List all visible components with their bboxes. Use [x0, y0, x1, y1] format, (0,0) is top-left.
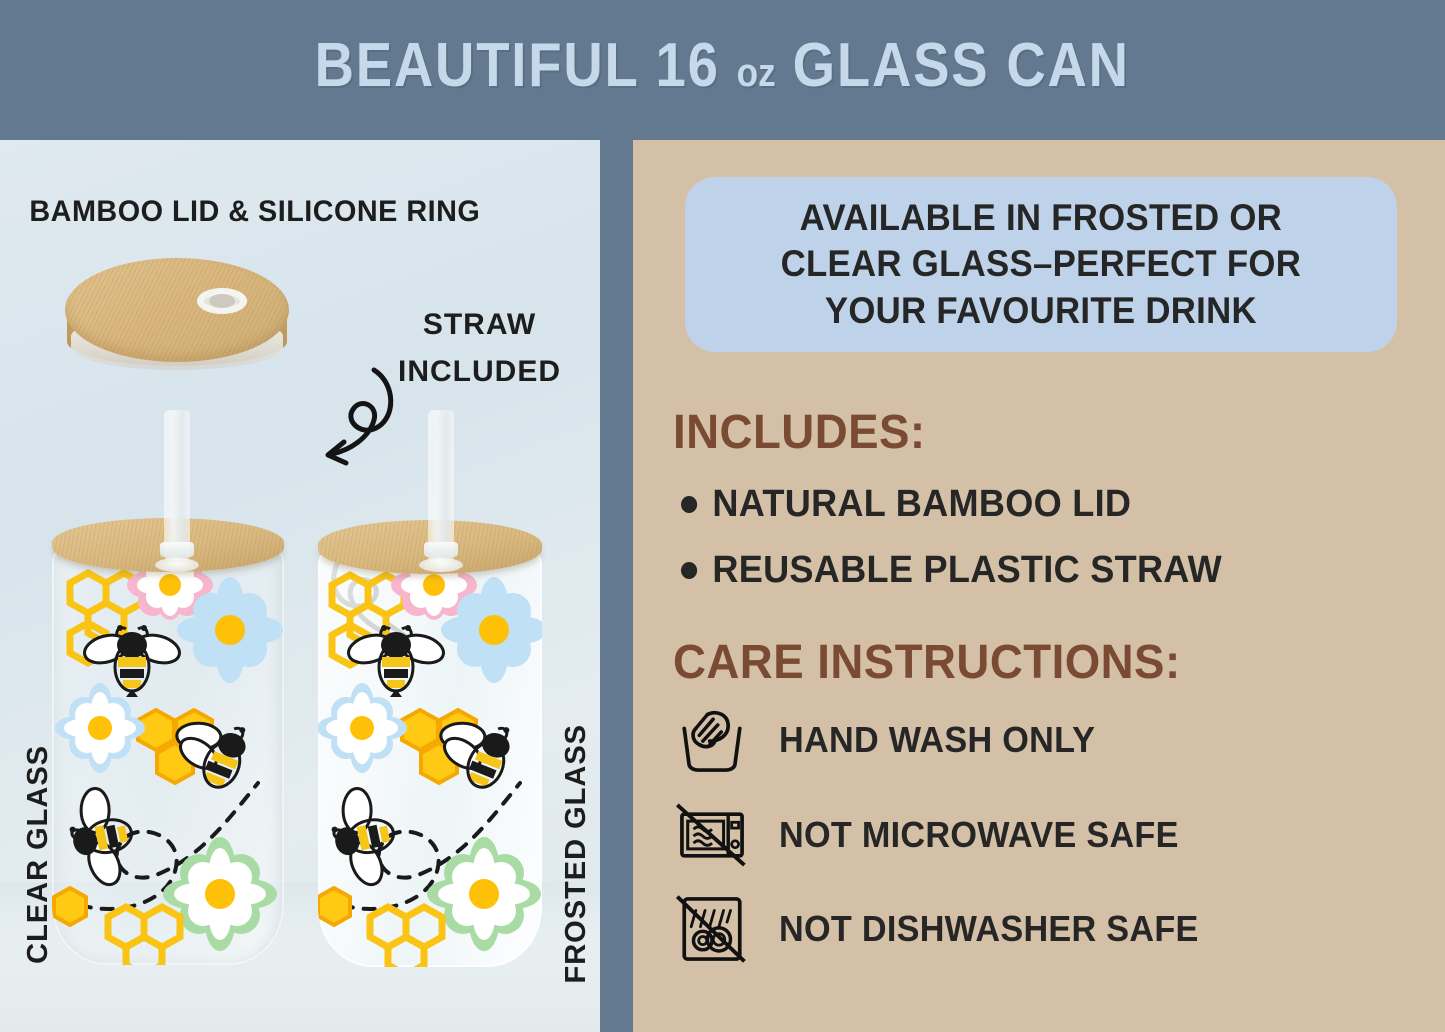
product-info-panel: AVAILABLE IN FROSTED OR CLEAR GLASS–PERF… — [633, 140, 1445, 1032]
availability-callout: AVAILABLE IN FROSTED OR CLEAR GLASS–PERF… — [685, 177, 1397, 352]
lid-straw-hole-inner — [209, 294, 235, 308]
bee-daisy-pattern-clear — [52, 545, 284, 965]
bee-daisy-pattern-frosted — [318, 547, 542, 967]
care-item-hand-wash: HAND WASH ONLY — [675, 703, 1112, 777]
straw-collar-clear — [160, 542, 194, 557]
straw-label-line-2: INCLUDED — [398, 349, 561, 396]
straw-collar-frosted — [424, 542, 458, 557]
no-microwave-icon — [675, 798, 749, 872]
page-title-main-2: GLASS CAN — [793, 31, 1130, 100]
page-header: BEAUTIFUL 16 oz GLASS CAN — [0, 0, 1445, 131]
frosted-glass-label: FROSTED GLASS — [560, 724, 593, 984]
care-item-no-microwave: NOT MICROWAVE SAFE — [675, 798, 1200, 872]
curly-arrow-to-lid — [292, 362, 412, 482]
includes-item-2: REUSABLE PLASTIC STRAW — [681, 549, 1222, 592]
straw-label-line-1: STRAW — [398, 302, 561, 349]
care-item-no-microwave-label: NOT MICROWAVE SAFE — [779, 814, 1179, 856]
bamboo-lid-label: BAMBOO LID & SILICONE RING — [29, 195, 480, 229]
clear-glass-label: CLEAR GLASS — [22, 745, 55, 964]
frosted-glass-cup — [318, 520, 542, 1000]
includes-heading: INCLUDES: — [673, 405, 926, 460]
bullet-dot-icon — [681, 496, 697, 513]
cup-body-frosted — [318, 547, 542, 967]
no-dishwasher-icon — [675, 892, 749, 966]
straw-base-frosted — [419, 558, 463, 572]
lid-top-surface — [65, 258, 289, 362]
page-title-unit: oz — [737, 51, 776, 95]
care-item-hand-wash-label: HAND WASH ONLY — [779, 719, 1095, 761]
includes-item-1-label: NATURAL BAMBOO LID — [712, 483, 1131, 526]
bullet-dot-icon — [681, 562, 697, 579]
page-title: BEAUTIFUL 16 oz GLASS CAN — [315, 30, 1130, 101]
straw-base-clear — [155, 558, 199, 572]
cup-body-clear — [52, 545, 284, 965]
straw-included-label: STRAW INCLUDED — [398, 302, 561, 395]
care-item-no-dishwasher-label: NOT DISHWASHER SAFE — [779, 908, 1199, 950]
callout-line-1: AVAILABLE IN FROSTED OR — [781, 195, 1301, 242]
hand-wash-icon — [675, 703, 749, 777]
page-title-main-1: BEAUTIFUL 16 — [315, 31, 720, 100]
straw-frosted — [428, 410, 454, 562]
clear-glass-cup — [52, 518, 284, 998]
callout-line-3: YOUR FAVOURITE DRINK — [781, 288, 1301, 335]
availability-callout-text: AVAILABLE IN FROSTED OR CLEAR GLASS–PERF… — [781, 195, 1301, 335]
bee-bottom — [324, 780, 404, 893]
product-photo-panel: BAMBOO LID & SILICONE RING STRAW INCLUDE… — [0, 140, 600, 1032]
care-item-no-dishwasher: NOT DISHWASHER SAFE — [675, 892, 1221, 966]
straw-clear — [164, 410, 190, 560]
callout-line-2: CLEAR GLASS–PERFECT FOR — [781, 241, 1301, 288]
includes-item-1: NATURAL BAMBOO LID — [681, 483, 1131, 526]
detached-bamboo-lid — [57, 252, 297, 382]
includes-item-2-label: REUSABLE PLASTIC STRAW — [712, 549, 1222, 592]
care-instructions-heading: CARE INSTRUCTIONS: — [673, 635, 1181, 690]
bee-bottom — [62, 780, 142, 893]
